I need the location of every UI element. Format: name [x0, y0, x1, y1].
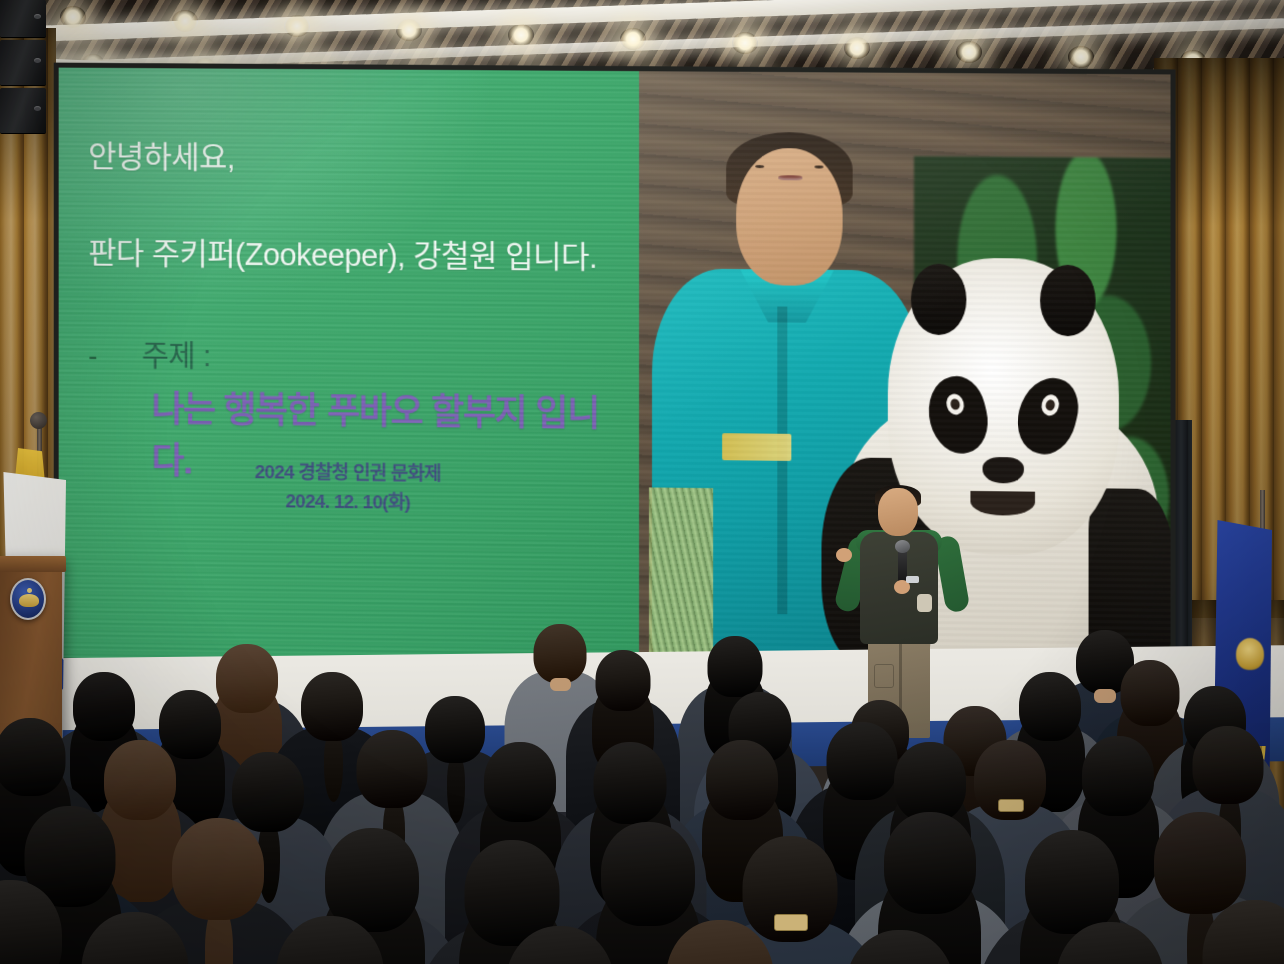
audience-head — [1193, 726, 1264, 804]
audience-member — [446, 926, 674, 964]
lecture-hall-scene: 안녕하세요, 판다 주키퍼(Zookeeper), 강철원 입니다. - 주제 … — [0, 0, 1284, 964]
downlight — [508, 24, 534, 46]
audience-member — [998, 922, 1223, 964]
audience-head — [82, 912, 189, 964]
audience-head — [506, 926, 615, 964]
audience-head — [706, 740, 778, 820]
downlight — [284, 15, 310, 37]
audience-head — [0, 718, 66, 796]
presenter-badge — [917, 594, 932, 612]
presenter-head — [878, 488, 918, 536]
ceiling-speaker-3 — [0, 88, 46, 134]
presenter-wristwatch — [906, 576, 919, 583]
audience-head — [846, 930, 955, 964]
audience-member — [218, 916, 443, 964]
audience-head — [1025, 830, 1119, 934]
slide-topic-label: 주제 : — [142, 331, 211, 375]
slide-greeting: 안녕하세요, — [88, 131, 613, 180]
slide-footer-date: 2024. 12. 10(화) — [59, 485, 639, 520]
flagpole-finial-left — [30, 412, 47, 429]
slide-topic-dash: - — [88, 340, 141, 372]
slide-text-panel: 안녕하세요, 판다 주키퍼(Zookeeper), 강철원 입니다. - 주제 … — [59, 68, 639, 666]
downlight — [1068, 46, 1094, 68]
audience-head — [708, 636, 763, 697]
audience-head — [1082, 736, 1154, 816]
audience-head — [596, 650, 651, 711]
audience-head — [357, 730, 428, 808]
audience-member — [786, 930, 1014, 964]
audience-head — [594, 742, 667, 824]
audience-head — [484, 742, 556, 822]
presenter-left-hand — [836, 548, 852, 562]
slide-intro: 판다 주키퍼(Zookeeper), 강철원 입니다. — [88, 228, 613, 277]
audience-member — [24, 912, 246, 964]
slide-topic-row: - 주제 : — [88, 330, 613, 379]
projection-screen: 안녕하세요, 판다 주키퍼(Zookeeper), 강철원 입니다. - 주제 … — [54, 63, 1176, 678]
microphone-head-icon — [895, 540, 910, 553]
ceiling-speaker-2 — [0, 40, 46, 86]
audience-head — [172, 818, 264, 920]
audience-head — [601, 822, 695, 926]
downlight — [620, 28, 646, 50]
police-flag-emblem-icon — [1236, 638, 1264, 670]
audience-head — [884, 812, 976, 914]
slide-footer: 2024 경찰청 인권 문화제 2024. 12. 10(화) — [59, 457, 639, 520]
audience-head — [276, 916, 384, 964]
podium-top — [0, 556, 66, 572]
audience-head — [894, 742, 966, 822]
audience-head — [1056, 922, 1164, 964]
ceiling-speaker-1 — [0, 0, 46, 38]
downlight — [60, 6, 86, 28]
audience-head — [666, 920, 774, 964]
downlight — [844, 37, 870, 59]
police-emblem-icon — [10, 578, 46, 620]
